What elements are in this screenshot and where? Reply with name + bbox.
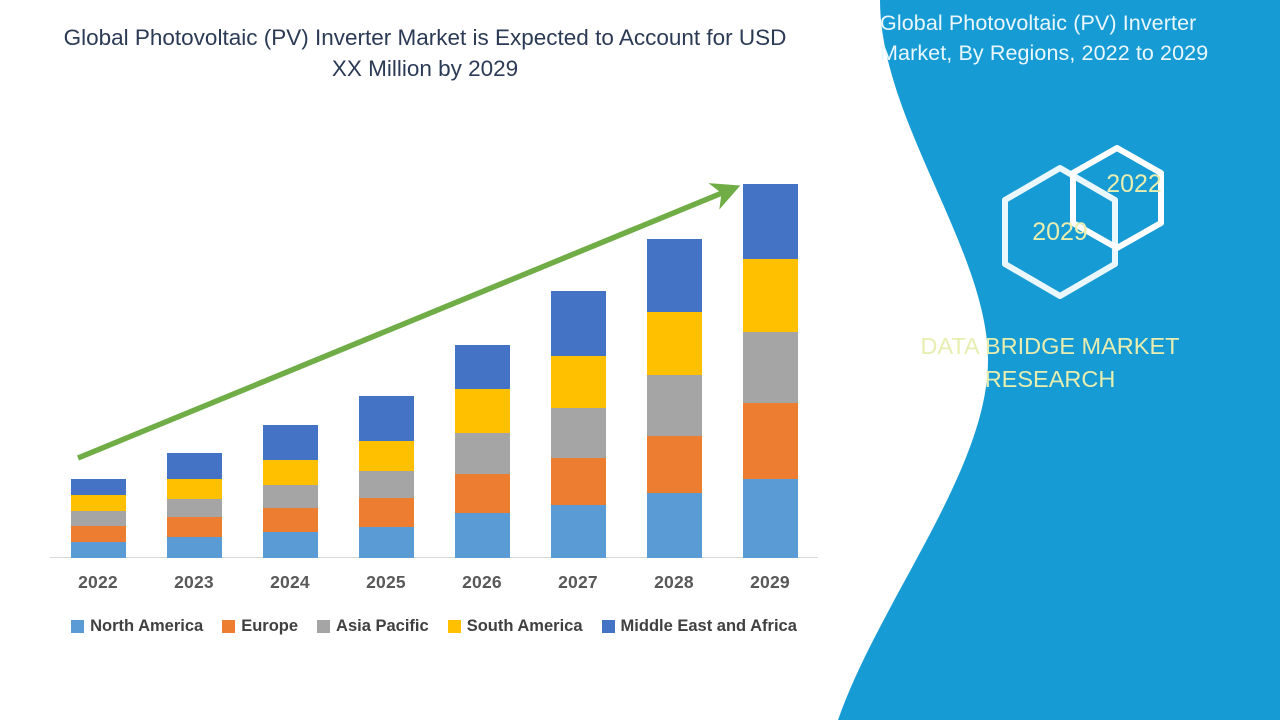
stacked-bar[interactable] (263, 425, 318, 558)
bar-group (338, 150, 434, 558)
bar-segment[interactable] (359, 441, 414, 471)
hexagon-label-2029: 2029 (1010, 218, 1110, 247)
x-axis-tick-label: 2025 (338, 572, 434, 593)
legend-swatch (222, 620, 235, 633)
bar-segment[interactable] (743, 479, 798, 558)
bar-segment[interactable] (359, 498, 414, 527)
bar-segment[interactable] (263, 532, 318, 558)
brand-name: DATA BRIDGE MARKET RESEARCH (865, 330, 1235, 396)
bar-segment[interactable] (551, 505, 606, 558)
x-axis-tick-label: 2024 (242, 572, 338, 593)
bar-group (242, 150, 338, 558)
x-axis-tick-label: 2029 (722, 572, 818, 593)
bar-segment[interactable] (71, 495, 126, 511)
legend-label: Europe (241, 617, 298, 636)
bar-segment[interactable] (647, 375, 702, 436)
bar-group (434, 150, 530, 558)
bar-segment[interactable] (647, 312, 702, 375)
stacked-bar-chart (50, 150, 818, 558)
x-axis-tick-label: 2026 (434, 572, 530, 593)
brand-panel: Global Photovoltaic (PV) Inverter Market… (820, 0, 1280, 720)
x-axis-tick-label: 2028 (626, 572, 722, 593)
stacked-bar[interactable] (359, 396, 414, 558)
legend-label: North America (90, 617, 203, 636)
stacked-bar[interactable] (743, 184, 798, 558)
bar-segment[interactable] (647, 493, 702, 558)
bar-segment[interactable] (551, 458, 606, 505)
bar-segment[interactable] (359, 471, 414, 498)
bar-segment[interactable] (71, 542, 126, 558)
page-title: Global Photovoltaic (PV) Inverter Market… (60, 22, 790, 84)
legend-item[interactable]: Asia Pacific (317, 617, 429, 636)
bar-group (530, 150, 626, 558)
bar-segment[interactable] (647, 239, 702, 312)
bar-segment[interactable] (743, 403, 798, 479)
legend-label: Asia Pacific (336, 617, 429, 636)
stacked-bar[interactable] (167, 453, 222, 558)
bar-segment[interactable] (263, 460, 318, 485)
bar-segment[interactable] (551, 408, 606, 458)
bar-segment[interactable] (743, 184, 798, 259)
bar-segment[interactable] (263, 425, 318, 460)
bar-segment[interactable] (455, 389, 510, 433)
bar-segment[interactable] (263, 508, 318, 532)
legend-swatch (448, 620, 461, 633)
legend-item[interactable]: Middle East and Africa (602, 617, 797, 636)
bar-segment[interactable] (551, 356, 606, 408)
legend-swatch (602, 620, 615, 633)
bar-segment[interactable] (263, 485, 318, 508)
bar-segment[interactable] (743, 259, 798, 332)
bar-segment[interactable] (455, 433, 510, 474)
legend-swatch (317, 620, 330, 633)
legend-label: Middle East and Africa (621, 617, 797, 636)
bar-segment[interactable] (167, 499, 222, 517)
bar-segment[interactable] (71, 526, 126, 542)
stacked-bar[interactable] (551, 291, 606, 558)
bar-segment[interactable] (455, 513, 510, 558)
chart-legend: North AmericaEuropeAsia PacificSouth Ame… (50, 617, 818, 636)
legend-item[interactable]: Europe (222, 617, 298, 636)
bar-group (722, 150, 818, 558)
bar-group (626, 150, 722, 558)
bar-segment[interactable] (743, 332, 798, 403)
bar-segment[interactable] (551, 291, 606, 356)
stacked-bar[interactable] (647, 239, 702, 558)
legend-item[interactable]: North America (71, 617, 203, 636)
bar-segment[interactable] (455, 474, 510, 513)
hexagon-label-2022: 2022 (1088, 170, 1180, 199)
bar-segment[interactable] (455, 345, 510, 389)
stacked-bar[interactable] (71, 479, 126, 558)
bar-segment[interactable] (359, 396, 414, 441)
bar-segment[interactable] (71, 511, 126, 526)
x-axis-tick-label: 2027 (530, 572, 626, 593)
bar-segment[interactable] (647, 436, 702, 493)
bar-segment[interactable] (71, 479, 126, 495)
stacked-bar[interactable] (455, 345, 510, 558)
x-axis-tick-label: 2023 (146, 572, 242, 593)
legend-label: South America (467, 617, 583, 636)
bar-segment[interactable] (167, 453, 222, 479)
legend-item[interactable]: South America (448, 617, 583, 636)
bar-group (146, 150, 242, 558)
legend-swatch (71, 620, 84, 633)
x-axis-tick-label: 2022 (50, 572, 146, 593)
bar-segment[interactable] (167, 537, 222, 558)
bar-group (50, 150, 146, 558)
bar-segment[interactable] (359, 527, 414, 558)
bar-segment[interactable] (167, 479, 222, 499)
bar-segment[interactable] (167, 517, 222, 537)
